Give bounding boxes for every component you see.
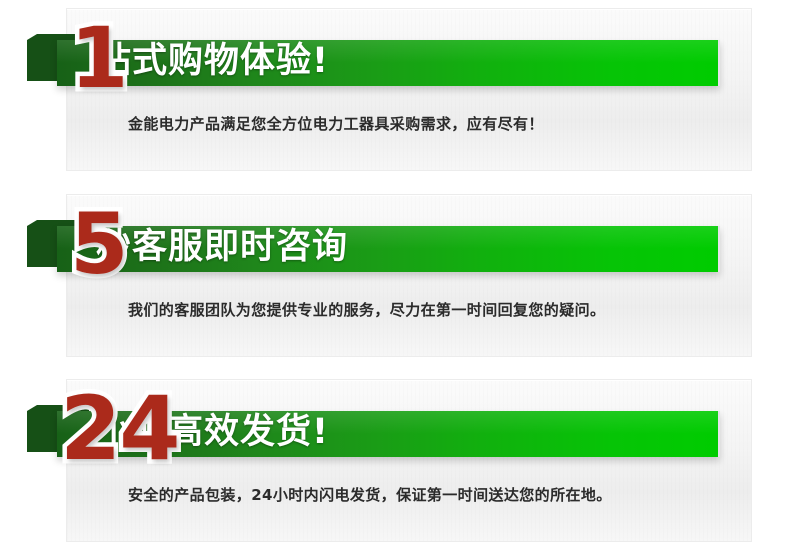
feature-blocks-container: 站式购物体验! 1 金能电力产品满足您全方位电力工器具采购需求，应有尽有！ 秒客…: [0, 0, 785, 557]
feature-headline: 站式购物体验!: [96, 38, 329, 84]
feature-block: 秒客服即时咨询 5 我们的客服团队为您提供专业的服务，尽力在第一时间回复您的疑问…: [0, 186, 785, 358]
feature-caption: 安全的产品包装，24小时内闪电发货，保证第一时间送达您的所在地。: [128, 484, 612, 505]
ribbon: 秒客服即时咨询 5: [0, 218, 785, 276]
feature-numeral: 24: [60, 387, 178, 471]
feature-block: 站式购物体验! 1 金能电力产品满足您全方位电力工器具采购需求，应有尽有！: [0, 0, 785, 172]
feature-caption: 金能电力产品满足您全方位电力工器具采购需求，应有尽有！: [128, 113, 544, 134]
ribbon: 小时高效发货! 24: [0, 403, 785, 461]
ribbon: 站式购物体验! 1: [0, 32, 785, 90]
feature-headline: 秒客服即时咨询: [96, 224, 348, 270]
feature-block: 小时高效发货! 24 安全的产品包装，24小时内闪电发货，保证第一时间送达您的所…: [0, 371, 785, 543]
feature-numeral: 1: [70, 16, 126, 100]
feature-numeral: 5: [70, 202, 126, 286]
feature-caption: 我们的客服团队为您提供专业的服务，尽力在第一时间回复您的疑问。: [128, 299, 605, 320]
